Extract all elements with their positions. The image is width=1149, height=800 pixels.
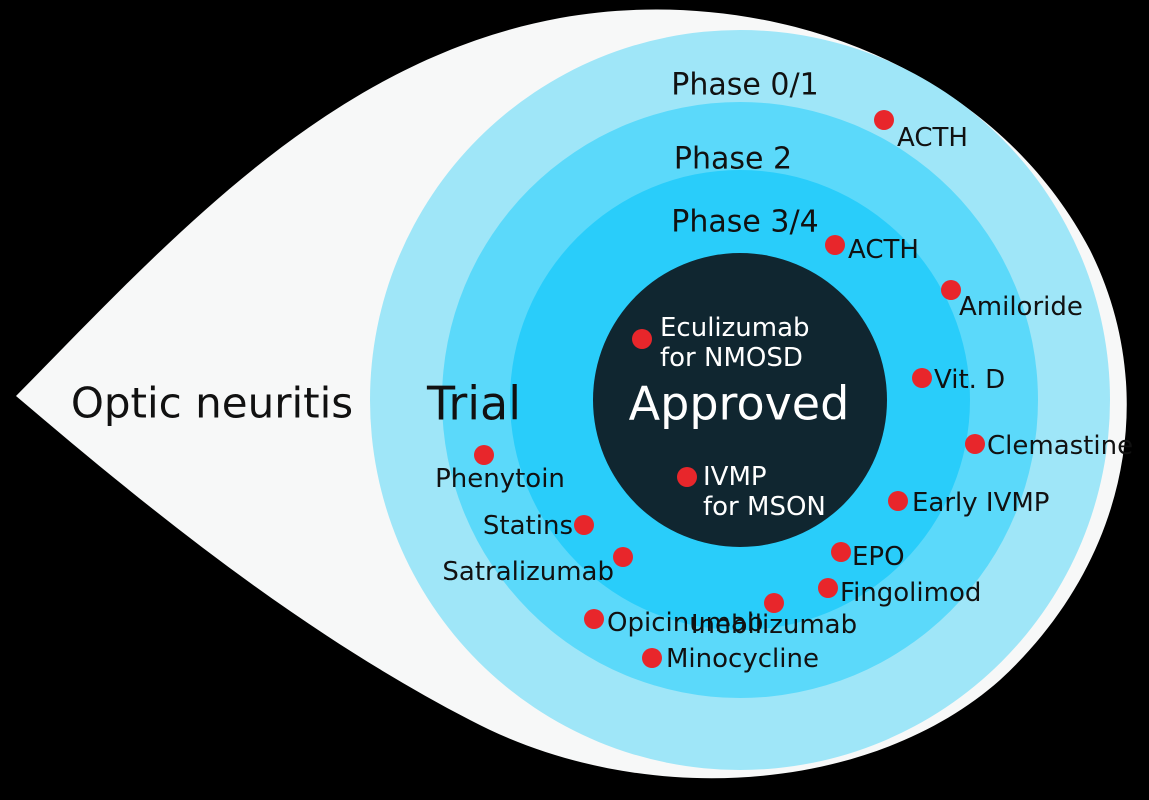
drug-label: Satralizumab <box>442 557 614 587</box>
drug-label-line: for MSON <box>703 492 826 522</box>
drug-marker-dot[interactable] <box>874 110 894 130</box>
ring-label-phase2: Phase 2 <box>674 142 792 177</box>
drug-entry[interactable]: Opicinumab <box>584 608 763 638</box>
drug-label: Eculizumabfor NMOSD <box>660 313 810 373</box>
ring-label-phase34: Phase 3/4 <box>671 205 818 240</box>
drug-label-line: Opicinumab <box>607 608 763 638</box>
drug-entry[interactable]: Early IVMP <box>888 488 1050 518</box>
drug-entry[interactable]: Clemastine <box>965 431 1133 461</box>
zone-label-trial: Trial <box>426 377 521 431</box>
drug-label: ACTH <box>897 123 968 153</box>
drug-label-line: Eculizumab <box>660 313 810 343</box>
drug-label-line: ACTH <box>897 123 968 153</box>
drug-label-line: for NMOSD <box>660 343 803 373</box>
drug-label-line: IVMP <box>703 462 767 492</box>
ring-label-phase01: Phase 0/1 <box>671 68 818 103</box>
diagnosis-label: Optic neuritis <box>71 379 353 428</box>
drug-label-line: EPO <box>852 542 905 572</box>
drug-label: Minocycline <box>666 644 819 674</box>
drug-marker-dot[interactable] <box>825 235 845 255</box>
drug-label: Amiloride <box>959 292 1083 322</box>
drug-entry[interactable]: Minocycline <box>642 644 819 674</box>
drug-label-line: Minocycline <box>666 644 819 674</box>
drug-marker-dot[interactable] <box>941 280 961 300</box>
drug-label: Fingolimod <box>840 578 981 608</box>
drug-label-line: Amiloride <box>959 292 1083 322</box>
drug-label: Statins <box>483 511 573 541</box>
drug-marker-dot[interactable] <box>912 368 932 388</box>
zone-label-approved: Approved <box>629 377 850 431</box>
drug-marker-dot[interactable] <box>888 491 908 511</box>
drug-label: Clemastine <box>987 431 1133 461</box>
drug-marker-dot[interactable] <box>965 434 985 454</box>
optic-neuritis-pipeline-diagram: Phase 0/1 Phase 2 Phase 3/4 Trial Approv… <box>0 0 1149 800</box>
drug-marker-dot[interactable] <box>818 578 838 598</box>
drug-label-line: Phenytoin <box>435 464 565 494</box>
drug-marker-dot[interactable] <box>677 467 697 487</box>
drug-label-line: Satralizumab <box>442 557 614 587</box>
drug-label: Phenytoin <box>435 464 565 494</box>
drug-label: Early IVMP <box>912 488 1050 518</box>
drug-label: ACTH <box>848 235 919 265</box>
drug-label-line: Early IVMP <box>912 488 1050 518</box>
drug-label-line: ACTH <box>848 235 919 265</box>
drug-marker-dot[interactable] <box>584 609 604 629</box>
drug-marker-dot[interactable] <box>642 648 662 668</box>
drug-marker-dot[interactable] <box>613 547 633 567</box>
drug-label-line: Statins <box>483 511 573 541</box>
drug-label-line: Clemastine <box>987 431 1133 461</box>
drug-marker-dot[interactable] <box>632 329 652 349</box>
drug-label-line: Fingolimod <box>840 578 981 608</box>
figure-canvas: Phase 0/1 Phase 2 Phase 3/4 Trial Approv… <box>0 0 1149 800</box>
drug-label-line: Vit. D <box>934 365 1005 395</box>
drug-entry[interactable]: Fingolimod <box>818 578 981 608</box>
drug-marker-dot[interactable] <box>831 542 851 562</box>
drug-label: Vit. D <box>934 365 1005 395</box>
drug-label: Opicinumab <box>607 608 763 638</box>
drug-marker-dot[interactable] <box>474 445 494 465</box>
drug-label: EPO <box>852 542 905 572</box>
drug-marker-dot[interactable] <box>574 515 594 535</box>
